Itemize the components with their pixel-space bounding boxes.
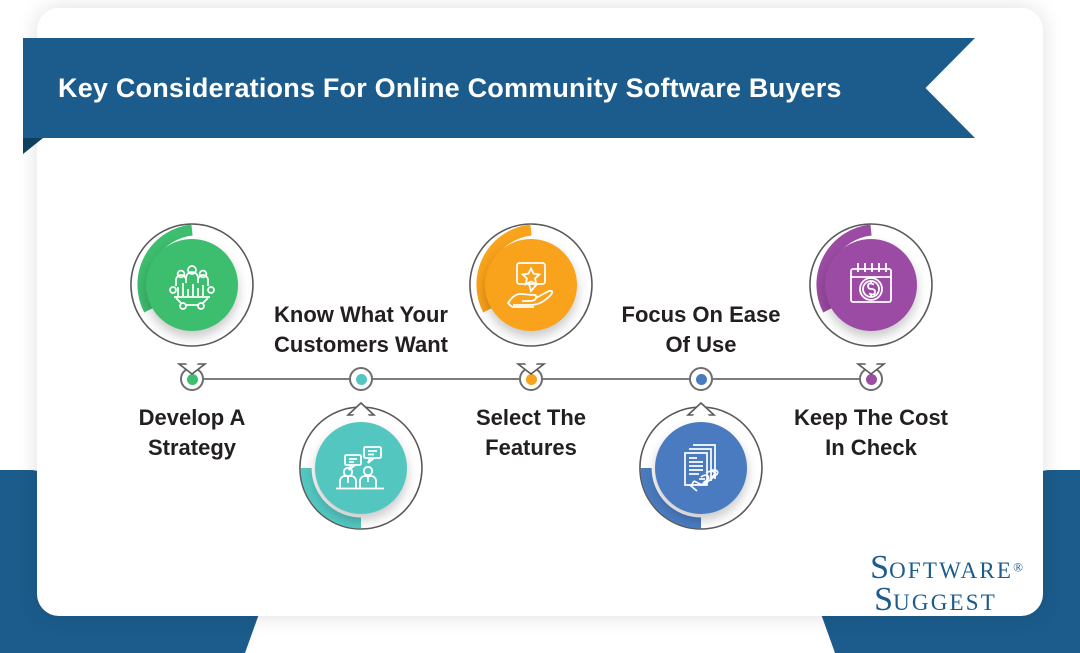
hand-document-icon	[655, 422, 747, 514]
calendar-dollar-coin-icon	[825, 239, 917, 331]
step-label-5: Keep The Cost In Check	[746, 403, 996, 464]
brand-logo-line2: SUGGEST	[874, 584, 1023, 615]
header-ribbon: Key Considerations For Online Community …	[23, 38, 975, 138]
two-people-chat-bubbles-icon	[315, 422, 407, 514]
step-node-3[interactable]	[468, 222, 594, 348]
hand-star-speech-bubble-icon	[485, 239, 577, 331]
step-label-1: Develop A Strategy	[77, 403, 307, 464]
page-title: Key Considerations For Online Community …	[23, 73, 842, 104]
infographic-canvas: Key Considerations For Online Community …	[0, 0, 1080, 653]
step-label-2: Know What Your Customers Want	[231, 300, 491, 361]
step-node-2[interactable]	[298, 405, 424, 531]
step-node-5[interactable]	[808, 222, 934, 348]
brand-logo-line1: SOFTWARE®	[870, 552, 1023, 583]
step-label-3: Select The Features	[411, 403, 651, 464]
people-bar-chart-network-icon	[146, 239, 238, 331]
ribbon-fold-corner	[23, 138, 43, 154]
step-label-4: Focus On Ease Of Use	[581, 300, 821, 361]
brand-logo: SOFTWARE® SUGGEST	[870, 552, 1023, 615]
